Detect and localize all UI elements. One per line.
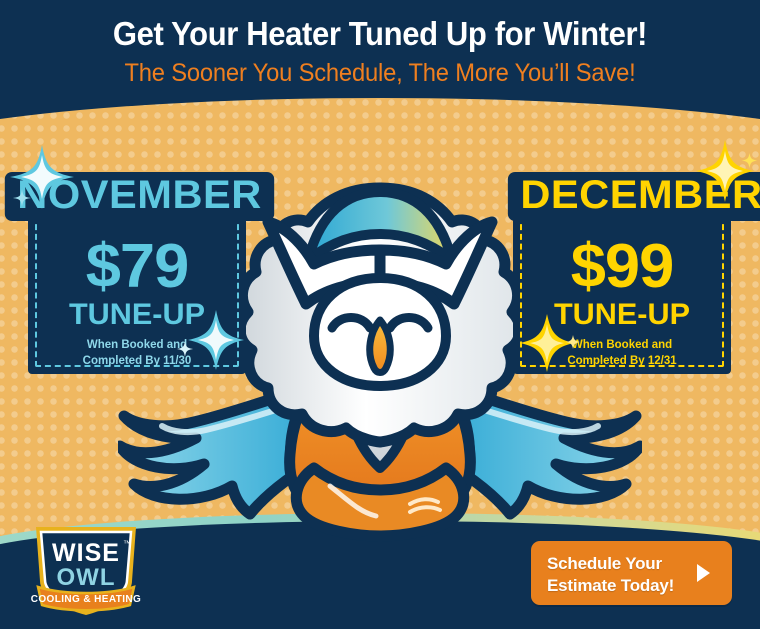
sparkle-icon-small bbox=[176, 340, 194, 358]
coupon-price: $79 bbox=[26, 236, 248, 298]
page-subtitle: The Sooner You Schedule, The More You’ll… bbox=[19, 60, 741, 88]
sparkle-icon-small bbox=[741, 152, 758, 169]
coupon-price: $99 bbox=[511, 236, 733, 298]
sparkle-icon-small bbox=[565, 334, 581, 350]
sparkle-icon-small bbox=[12, 188, 32, 208]
logo-text-owl: OWL bbox=[57, 564, 116, 591]
logo-text-wise: WISE bbox=[52, 539, 120, 567]
cta-line-2: Estimate Today! bbox=[547, 575, 682, 597]
sparkle-icon bbox=[186, 308, 246, 372]
play-arrow-icon bbox=[697, 564, 710, 582]
sparkle-icon bbox=[694, 138, 756, 204]
logo-tagline: COOLING & HEATING bbox=[31, 594, 142, 605]
promotional-banner: Get Your Heater Tuned Up for Winter! The… bbox=[0, 0, 760, 629]
brand-logo[interactable]: WISE ™ OWL COOLING & HEATING bbox=[30, 519, 142, 619]
cta-button-label: Schedule Your Estimate Today! bbox=[547, 553, 682, 597]
schedule-estimate-button[interactable]: Schedule Your Estimate Today! bbox=[531, 541, 732, 605]
cta-line-1: Schedule Your bbox=[547, 553, 682, 575]
header-block: Get Your Heater Tuned Up for Winter! The… bbox=[0, 0, 760, 87]
owl-beak bbox=[370, 320, 391, 373]
page-title: Get Your Heater Tuned Up for Winter! bbox=[23, 16, 737, 53]
logo-trademark: ™ bbox=[123, 539, 131, 548]
